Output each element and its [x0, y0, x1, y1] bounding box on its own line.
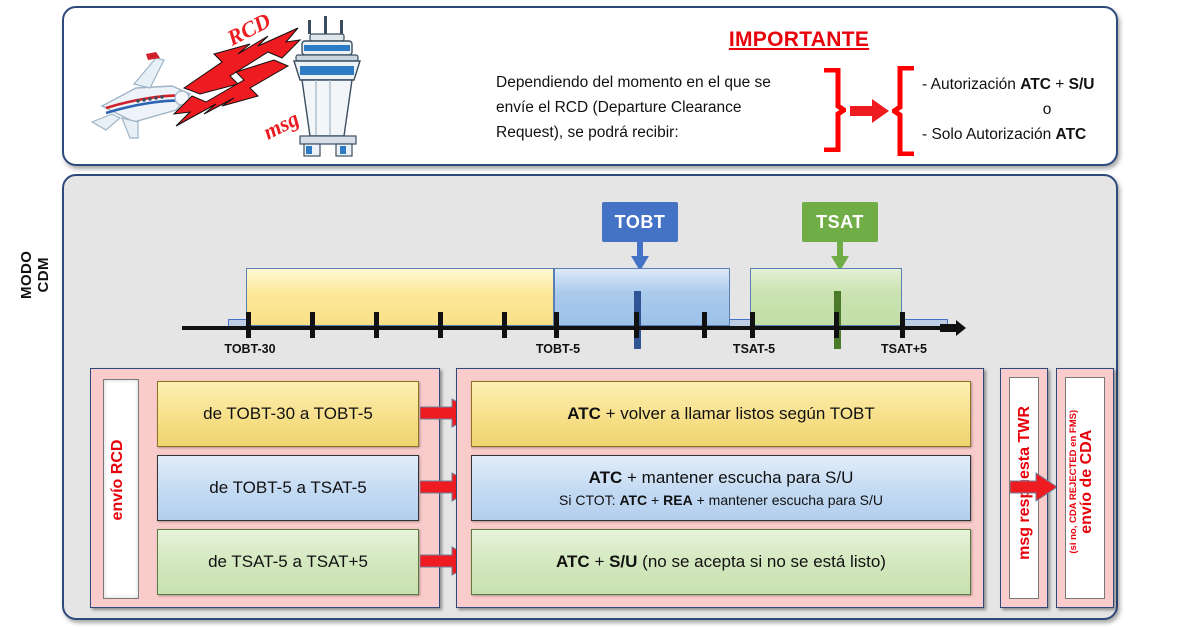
envio-cda-main: envío de CDA — [1078, 389, 1094, 574]
axis-label-tsat-5p: TSAT+5 — [881, 342, 927, 356]
action-row-2-line-2: Si CTOT: ATC + REA + mantener escucha pa… — [559, 492, 883, 508]
condition-row-2: de TOBT-5 a TSAT-5 — [157, 455, 419, 521]
outcome-2: - Solo Autorización ATC — [922, 122, 1172, 147]
rcd-send-group: envío RCD de TOBT-30 a TOBT-5 de TOBT-5 … — [90, 368, 440, 608]
axis-label-tobt-5: TOBT-5 — [536, 342, 580, 356]
tick-tsat — [834, 312, 839, 338]
flow-arrow-to-cda-icon — [1010, 472, 1058, 502]
axis-label-tsat-5: TSAT-5 — [733, 342, 775, 356]
modo-cdm-line-2: CDM — [36, 215, 53, 335]
tick-2 — [310, 312, 315, 338]
action-row-3-line-1: ATC + S/U (no se acepta si no se está li… — [556, 552, 886, 572]
airplane-icon — [92, 52, 190, 138]
cdm-mode-panel: TOBT TSAT TOBT-30 TOBT-5 TSAT-5 — [62, 174, 1118, 620]
action-row-2: ATC + mantener escucha para S/U Si CTOT:… — [471, 455, 971, 521]
condition-row-1: de TOBT-30 a TOBT-5 — [157, 381, 419, 447]
action-row-2-line-1: ATC + mantener escucha para S/U — [589, 468, 854, 488]
premise-line-3: Request), se podrá recibir: — [496, 120, 818, 145]
tick-4 — [438, 312, 443, 338]
tick-8 — [702, 312, 707, 338]
action-row-1-line-1: ATC + volver a llamar listos según TOBT — [567, 404, 875, 424]
modo-cdm-label: MODO CDM — [19, 215, 53, 335]
modo-cdm-line-1: MODO — [19, 215, 36, 335]
tick-tobt — [634, 312, 639, 338]
outcome-separator: o — [922, 97, 1172, 122]
condition-row-3: de TSAT-5 a TSAT+5 — [157, 529, 419, 595]
axis-label-tobt-30: TOBT-30 — [224, 342, 275, 356]
tick-tsat-5 — [750, 312, 755, 338]
tick-5 — [502, 312, 507, 338]
msg-bolt-label: msg — [259, 106, 303, 145]
tobt-badge: TOBT — [602, 202, 678, 242]
tick-tobt-30 — [246, 312, 251, 338]
left-brace-icon — [820, 68, 846, 152]
premise-text: Dependiendo del momento en el que se env… — [496, 70, 818, 145]
outcome-1: - Autorización ATC + S/U — [922, 72, 1172, 97]
premise-line-2: envíe el RCD (Departure Clearance — [496, 95, 818, 120]
tsat-badge: TSAT — [802, 202, 878, 242]
rcd-msg-illustration: RCD msg — [72, 14, 468, 162]
important-panel: RCD msg IMPORTANTE Dependiendo del momen… — [62, 6, 1118, 166]
cda-send-group: (si no, CDA REJECTED en FMS) envío de CD… — [1056, 368, 1114, 608]
tick-3 — [374, 312, 379, 338]
outcomes-list: - Autorización ATC + S/U o - Solo Autori… — [922, 72, 1172, 147]
envio-cda-label: (si no, CDA REJECTED en FMS) envío de CD… — [1069, 389, 1095, 574]
right-brace-icon — [892, 66, 918, 156]
important-heading: IMPORTANTE — [494, 28, 1104, 52]
tick-tobt-5 — [554, 312, 559, 338]
atc-response-group: ATC + volver a llamar listos según TOBT … — [456, 368, 984, 608]
implication-arrow-icon — [850, 98, 890, 124]
control-tower-icon — [294, 16, 360, 156]
rcd-flow-diagram: envío RCD de TOBT-30 a TOBT-5 de TOBT-5 … — [90, 368, 1094, 608]
tick-tsat-5p — [900, 312, 905, 338]
timeline-axis — [182, 326, 942, 330]
timeline: TOBT TSAT TOBT-30 TOBT-5 TSAT-5 — [182, 196, 982, 356]
envio-rcd-label: envío RCD — [109, 390, 127, 570]
premise-line-1: Dependiendo del momento en el que se — [496, 70, 818, 95]
action-row-3: ATC + S/U (no se acepta si no se está li… — [471, 529, 971, 595]
segment-tsat5-tsat5p — [750, 268, 902, 326]
segment-tobt30-tobt5 — [246, 268, 554, 326]
axis-arrowhead-icon — [940, 320, 966, 336]
action-row-1: ATC + volver a llamar listos según TOBT — [471, 381, 971, 447]
